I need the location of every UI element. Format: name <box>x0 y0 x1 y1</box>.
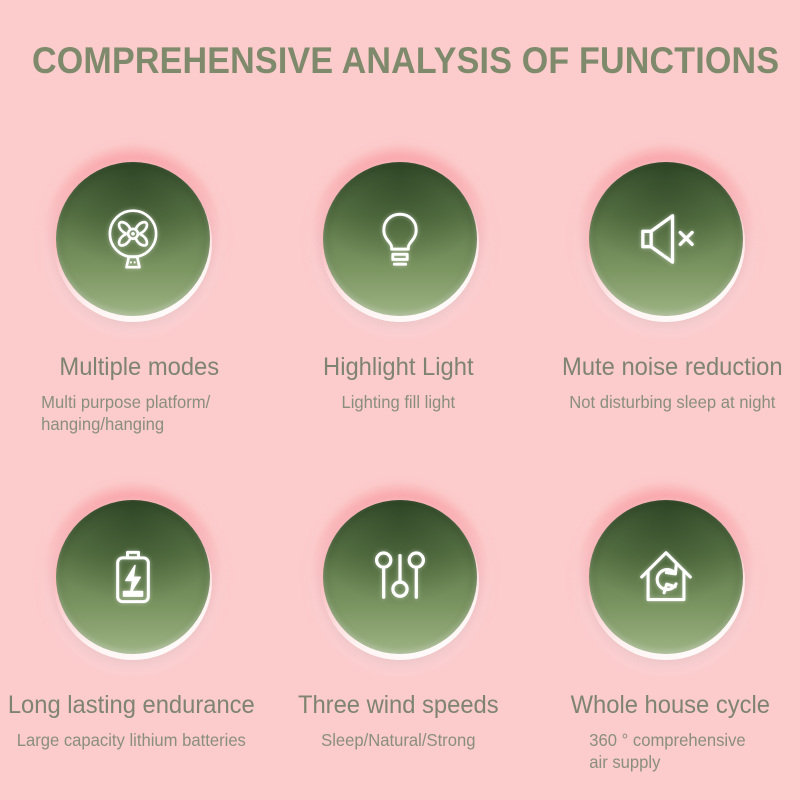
feature-subtext: Sleep/Natural/Strong <box>271 729 524 751</box>
icon-disc <box>56 162 210 316</box>
feature-caption: Three wind speeds Sleep/Natural/Strong <box>265 682 532 751</box>
feature-subtext: Multi purpose platform/ hanging/hanging <box>13 391 266 435</box>
fan-icon <box>96 202 170 276</box>
page-title: COMPREHENSIVE ANALYSIS OF FUNCTIONS <box>32 38 768 84</box>
house-cycle-icon <box>629 540 703 614</box>
feature-heading: Three wind speeds <box>271 690 524 720</box>
mute-speaker-icon <box>628 201 704 277</box>
sliders-icon <box>364 541 436 613</box>
feature-card-three-wind-speeds[interactable]: Three wind speeds Sleep/Natural/Strong <box>267 476 534 796</box>
feature-icon-button-house-cycle[interactable] <box>563 476 769 682</box>
icon-disc <box>56 500 210 654</box>
light-bulb-icon <box>364 203 436 275</box>
feature-icon-button-battery[interactable] <box>30 476 236 682</box>
feature-heading: Long lasting endurance <box>5 690 258 720</box>
feature-card-long-lasting-endurance[interactable]: Long lasting endurance Large capacity li… <box>0 476 267 796</box>
feature-card-whole-house-cycle[interactable]: Whole house cycle 360 ° comprehensive ai… <box>533 476 800 796</box>
feature-card-highlight-light[interactable]: Highlight Light Lighting fill light <box>267 138 534 476</box>
icon-disc <box>589 162 743 316</box>
feature-row-1: Multiple modes Multi purpose platform/ h… <box>0 138 800 476</box>
feature-heading: Multiple modes <box>13 352 266 382</box>
feature-icon-button-fan[interactable] <box>30 138 236 344</box>
feature-heading: Whole house cycle <box>544 690 797 720</box>
feature-card-multiple-modes[interactable]: Multiple modes Multi purpose platform/ h… <box>0 138 267 476</box>
feature-subtext: 360 ° comprehensive air supply <box>544 729 797 773</box>
feature-card-mute-noise-reduction[interactable]: Mute noise reduction Not disturbing slee… <box>533 138 800 476</box>
feature-row-2: Long lasting endurance Large capacity li… <box>0 476 800 796</box>
feature-icon-button-sliders[interactable] <box>297 476 503 682</box>
battery-charging-icon <box>98 542 168 612</box>
feature-icon-button-mute[interactable] <box>563 138 769 344</box>
feature-caption: Multiple modes Multi purpose platform/ h… <box>6 344 273 435</box>
feature-heading: Mute noise reduction <box>546 352 799 382</box>
icon-disc <box>323 500 477 654</box>
feature-overview-page: COMPREHENSIVE ANALYSIS OF FUNCTIONS <box>0 0 800 800</box>
feature-caption: Long lasting endurance Large capacity li… <box>0 682 265 751</box>
feature-caption: Whole house cycle 360 ° comprehensive ai… <box>537 682 800 773</box>
icon-disc <box>589 500 743 654</box>
icon-disc <box>323 162 477 316</box>
feature-caption: Mute noise reduction Not disturbing slee… <box>539 344 800 413</box>
feature-icon-button-light-bulb[interactable] <box>297 138 503 344</box>
feature-subtext: Lighting fill light <box>271 391 524 413</box>
feature-subtext: Large capacity lithium batteries <box>5 729 258 751</box>
feature-subtext: Not disturbing sleep at night <box>546 391 799 413</box>
feature-heading: Highlight Light <box>271 352 524 382</box>
feature-grid: Multiple modes Multi purpose platform/ h… <box>0 138 800 796</box>
feature-caption: Highlight Light Lighting fill light <box>265 344 532 413</box>
